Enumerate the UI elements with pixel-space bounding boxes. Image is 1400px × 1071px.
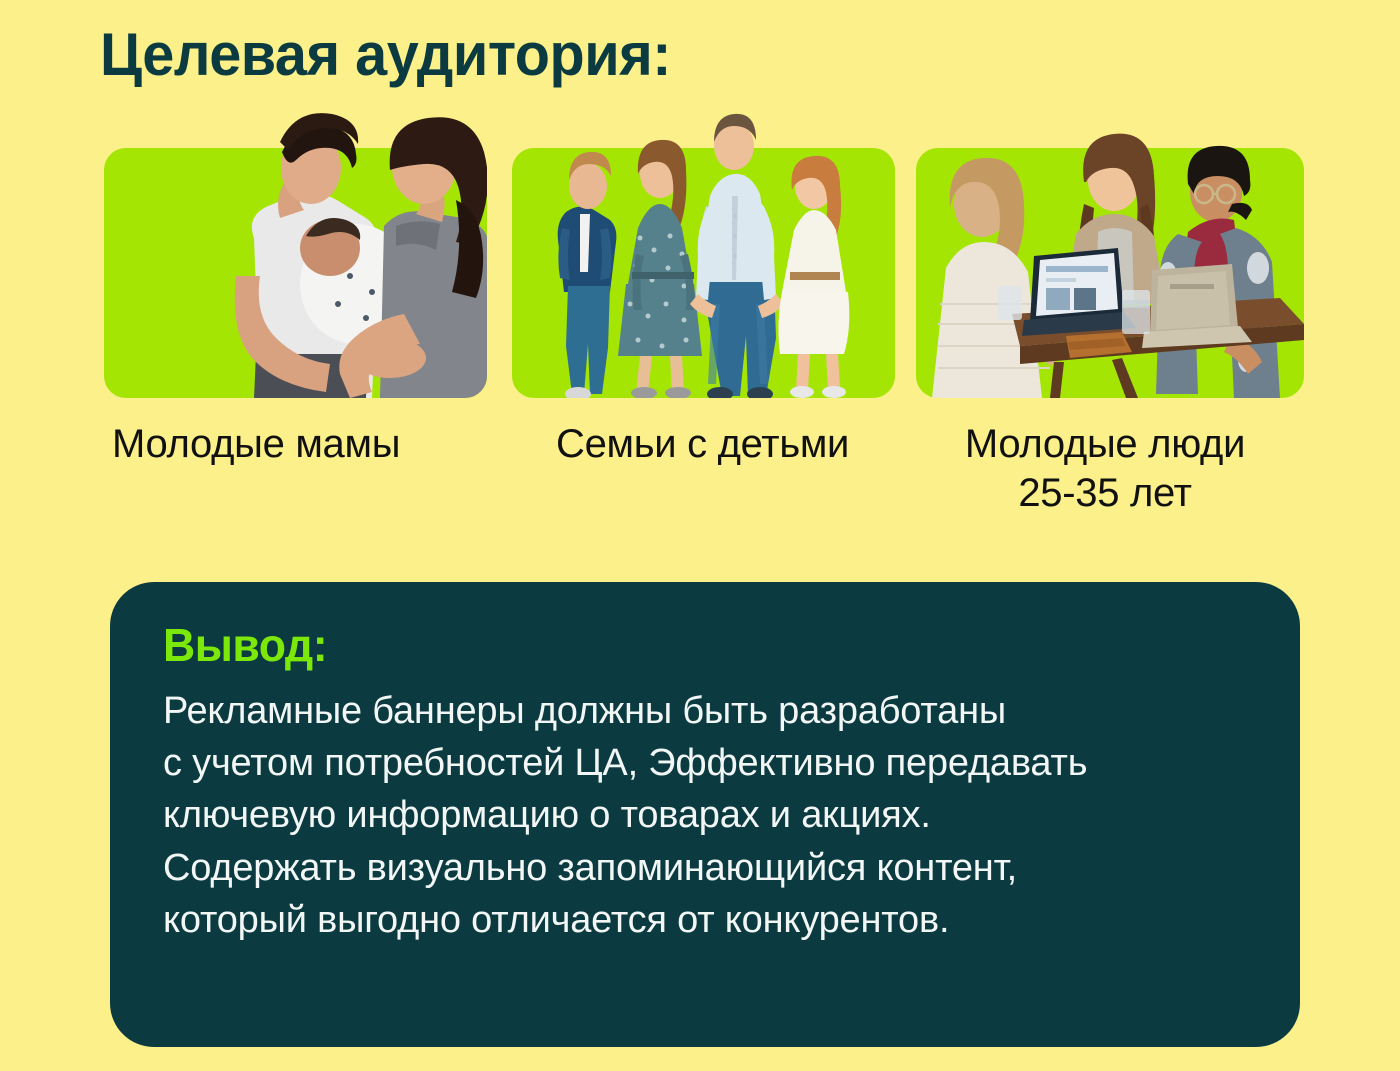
photo-parents-with-newborn <box>104 108 487 398</box>
audience-card-young-people[interactable] <box>916 148 1304 398</box>
conclusion-line-4: Содержать визуально запоминающийся конте… <box>163 842 1250 894</box>
slide-root: Целевая аудитория: <box>0 0 1400 1071</box>
photo-young-people-with-laptops <box>916 108 1304 398</box>
audience-card-families[interactable] <box>512 148 895 398</box>
conclusion-body: Рекламные баннеры должны быть разработан… <box>163 685 1250 947</box>
conclusion-line-3: ключевую информацию о товарах и акциях. <box>163 789 1250 841</box>
conclusion-panel: Вывод: Рекламные баннеры должны быть раз… <box>110 582 1300 1047</box>
audience-cards-row <box>104 148 1304 400</box>
audience-caption-families: Семьи с детьми <box>556 420 849 469</box>
audience-caption-young-people-line1: Молодые люди <box>965 422 1245 466</box>
audience-caption-young-mothers: Молодые мамы <box>112 420 400 469</box>
conclusion-line-1: Рекламные баннеры должны быть разработан… <box>163 685 1250 737</box>
conclusion-heading: Вывод: <box>163 620 1217 671</box>
conclusion-line-2: с учетом потребностей ЦА, Эффективно пер… <box>163 737 1250 789</box>
page-title: Целевая аудитория: <box>100 20 671 89</box>
audience-caption-young-people-line2: 25-35 лет <box>1018 471 1191 515</box>
photo-family-with-children-walking <box>512 108 895 398</box>
conclusion-line-5: который выгодно отличается от конкуренто… <box>163 894 1250 946</box>
audience-card-young-mothers[interactable] <box>104 148 487 398</box>
audience-caption-young-people: Молодые люди 25-35 лет <box>930 420 1280 518</box>
